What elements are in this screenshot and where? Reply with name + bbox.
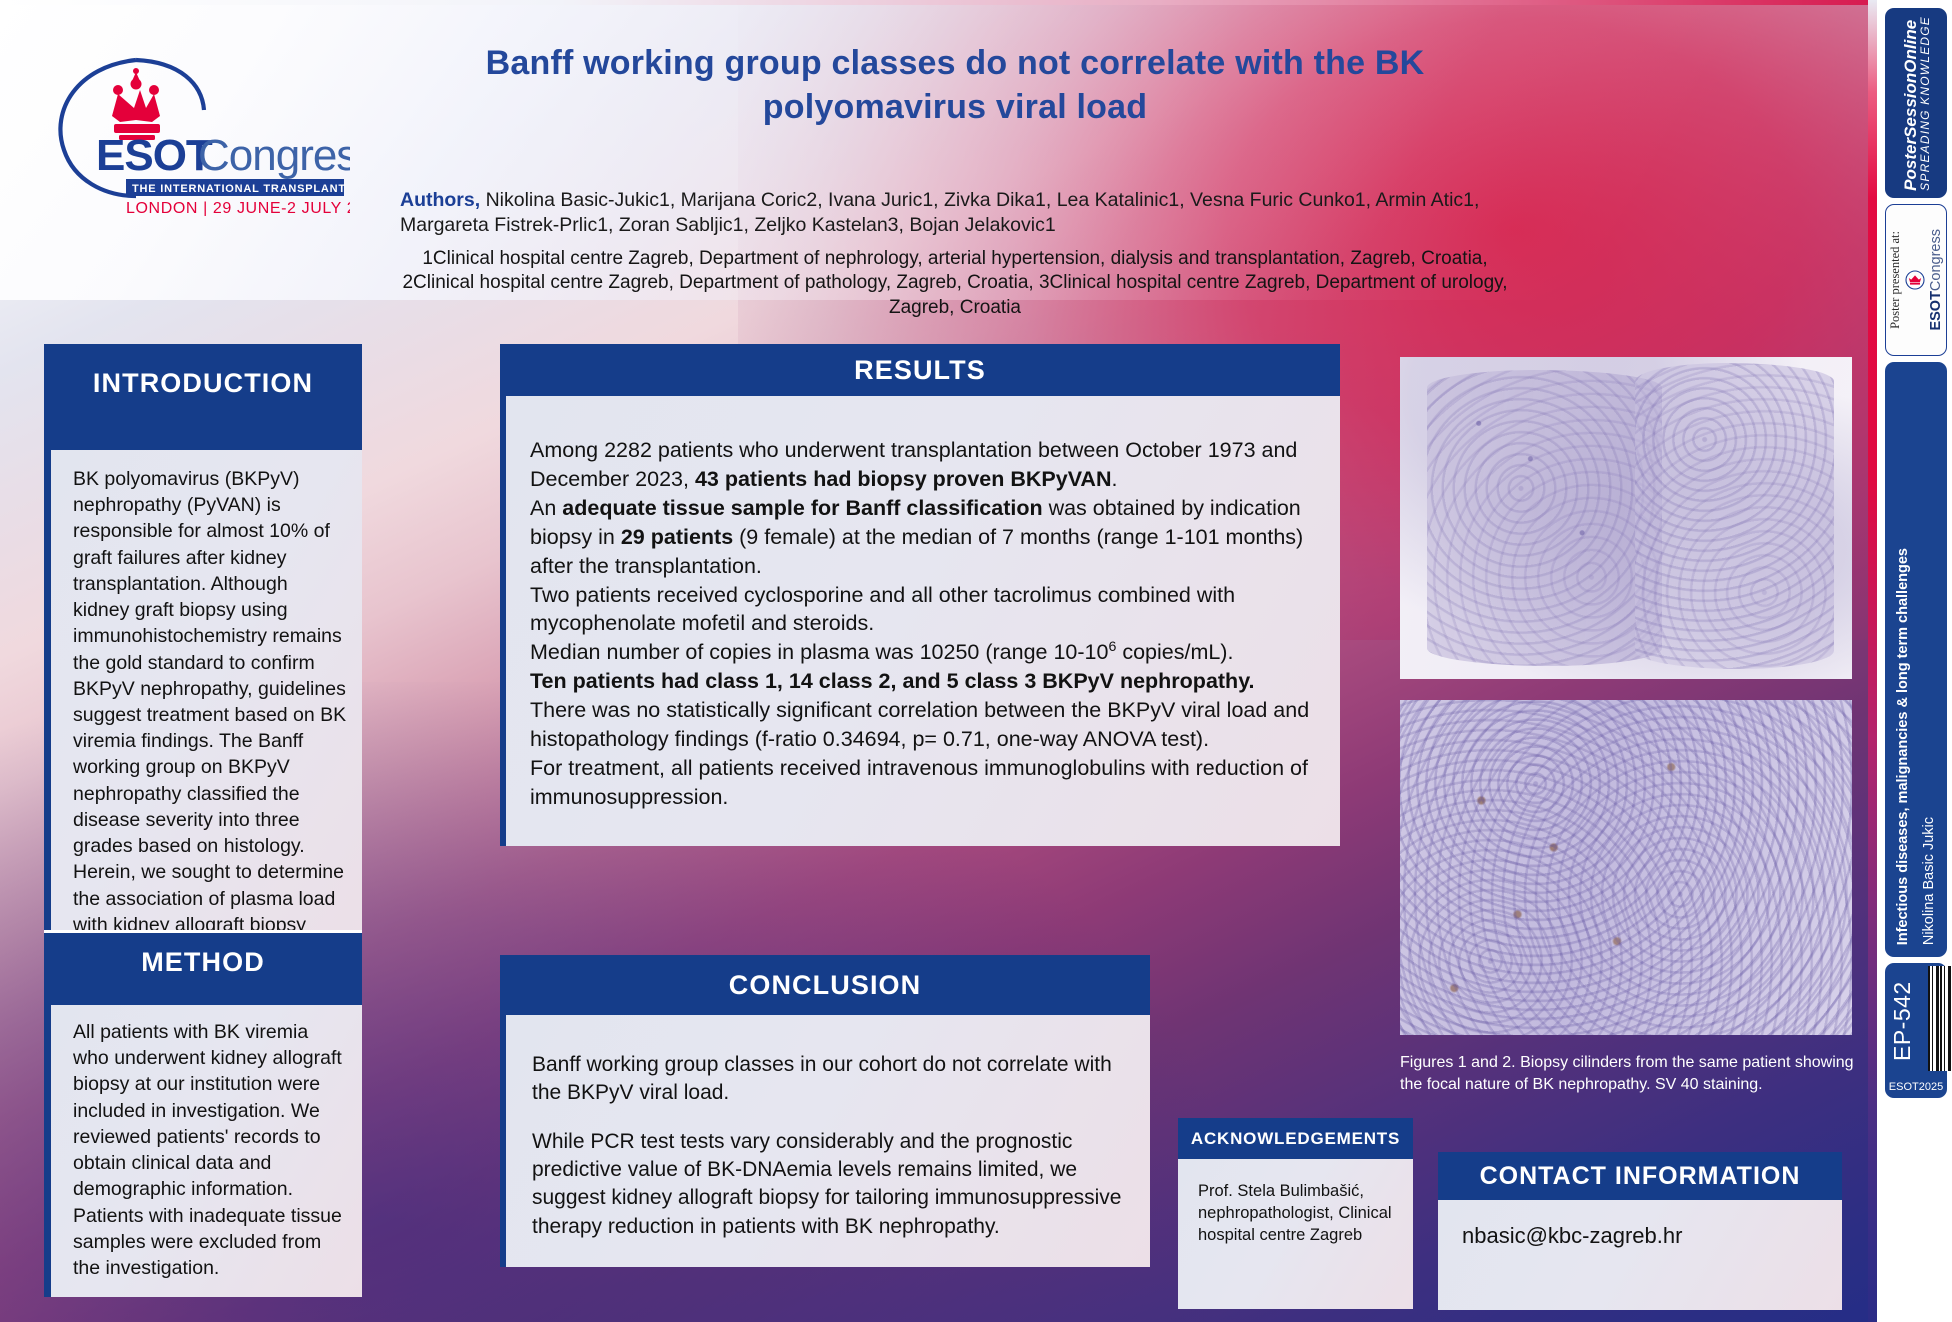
esot-crown-mini-icon — [1905, 270, 1925, 290]
results-paragraph-1: Among 2282 patients who underwent transp… — [530, 436, 1318, 494]
acknowledgements-panel: ACKNOWLEDGEMENTS Prof. Stela Bulimbašić,… — [1178, 1118, 1413, 1309]
pso-tagline: SPREADING KNOWLEDGE — [1919, 16, 1931, 191]
results-p5-text: Ten patients had class 1, 14 class 2, an… — [530, 669, 1255, 693]
introduction-panel: INTRODUCTION BK polyomavirus (BKPyV) nep… — [44, 344, 362, 978]
svg-text:Congress: Congress — [198, 131, 350, 180]
presented-at-label: Poster presented at: — [1888, 231, 1904, 329]
contact-heading: CONTACT INFORMATION — [1438, 1152, 1842, 1200]
results-paragraph-3: Two patients received cyclosporine and a… — [530, 581, 1318, 639]
results-p4-a: Median number of copies in plasma was 10… — [530, 641, 1108, 665]
rail-esot-wordmark: ESOTCongress — [1928, 229, 1944, 331]
method-panel: METHOD All patients with BK viremia who … — [44, 930, 362, 1297]
conclusion-paragraph-1: Banff working group classes in our cohor… — [532, 1051, 1126, 1108]
rail-esot-bold: ESOT — [1928, 291, 1944, 330]
results-p2-a: An — [530, 496, 562, 520]
poster-session-online-badge: PosterSessionOnline SPREADING KNOWLEDGE — [1885, 8, 1947, 198]
acknowledgements-body: Prof. Stela Bulimbašić, nephropathologis… — [1178, 1159, 1413, 1309]
introduction-heading-filler — [44, 422, 362, 450]
conclusion-panel: CONCLUSION Banff working group classes i… — [500, 955, 1150, 1267]
authors-label: Authors, — [400, 189, 480, 211]
figure-2-histology-texture — [1400, 700, 1852, 1035]
poster-barcode — [1928, 966, 1952, 1071]
results-paragraph-4: Median number of copies in plasma was 10… — [530, 638, 1318, 667]
svg-text:ESOT: ESOT — [96, 131, 213, 180]
results-paragraph-5: Ten patients had class 1, 14 class 2, an… — [530, 667, 1318, 696]
pso-brand-text: PosterSessionOnline — [1901, 19, 1920, 190]
rail-esot-logo: ESOTCongress — [1905, 229, 1944, 331]
figure-2-biopsy-image — [1400, 700, 1852, 1035]
figure-1-tissue-core — [1427, 370, 1662, 666]
authors-block: Authors, Nikolina Basic-Jukic1, Marijana… — [400, 188, 1510, 321]
figure-1-biopsy-image — [1400, 357, 1852, 679]
rail-esot-light: Congress — [1928, 229, 1944, 291]
conclusion-heading: CONCLUSION — [500, 955, 1150, 1015]
method-heading: METHOD — [44, 933, 362, 991]
poster-root: ESOT Congress THE INTERNATIONAL TRANSPLA… — [0, 0, 1952, 1322]
results-body: Among 2282 patients who underwent transp… — [500, 396, 1340, 846]
affiliations: 1Clinical hospital centre Zagreb, Depart… — [400, 247, 1510, 321]
rail-color-stripe — [1868, 0, 1877, 1322]
figure-1-histology-texture — [1400, 357, 1852, 679]
results-p1-b: 43 patients had biopsy proven BKPyVAN — [695, 467, 1112, 491]
authors-names: Nikolina Basic-Jukic1, Marijana Coric2, … — [400, 189, 1479, 236]
logo-tagline: THE INTERNATIONAL TRANSPLANT CONGRESS — [132, 183, 350, 195]
results-paragraph-2: An adequate tissue sample for Banff clas… — [530, 494, 1318, 581]
poster-title: Banff working group classes do not corre… — [400, 42, 1510, 129]
authors-line: Authors, Nikolina Basic-Jukic1, Marijana… — [400, 188, 1510, 239]
poster-canvas: ESOT Congress THE INTERNATIONAL TRANSPLA… — [0, 0, 1868, 1322]
results-p2-d: 29 patients — [621, 525, 733, 549]
figure-1-tissue-core-secondary — [1635, 363, 1834, 669]
introduction-heading: INTRODUCTION — [44, 344, 362, 422]
presenter-name: Nikolina Basic Jukic — [1921, 817, 1937, 945]
method-body: All patients with BK viremia who underwe… — [44, 1005, 362, 1297]
conclusion-paragraph-2: While PCR test tests vary considerably a… — [532, 1128, 1126, 1241]
conclusion-body: Banff working group classes in our cohor… — [500, 1015, 1150, 1267]
figures-caption: Figures 1 and 2. Biopsy cilinders from t… — [1400, 1052, 1860, 1096]
results-p1-c: . — [1112, 467, 1118, 491]
results-p2-b: adequate tissue sample for Banff classif… — [562, 496, 1042, 520]
header-top-rule — [0, 0, 1868, 5]
congress-theme-badge: Infectious diseases, malignancies & long… — [1885, 362, 1947, 957]
congress-year-label: ESOT2025 — [1885, 1081, 1947, 1093]
poster-code-number: EP-542 — [1889, 973, 1916, 1070]
results-paragraph-7: For treatment, all patients received int… — [530, 754, 1318, 812]
results-paragraph-6: There was no statistically significant c… — [530, 696, 1318, 754]
results-panel: RESULTS Among 2282 patients who underwen… — [500, 344, 1340, 846]
esot-congress-logo: ESOT Congress THE INTERNATIONAL TRANSPLA… — [40, 38, 350, 216]
results-p4-b: copies/mL). — [1116, 641, 1233, 665]
contact-information-panel: CONTACT INFORMATION nbasic@kbc-zagreb.hr — [1438, 1152, 1842, 1310]
poster-presented-at-badge: Poster presented at: ESOTCongress — [1885, 204, 1947, 356]
results-heading: RESULTS — [500, 344, 1340, 396]
poster-session-online-wordmark: PosterSessionOnline SPREADING KNOWLEDGE — [1902, 16, 1931, 191]
logo-location-date: LONDON | 29 JUNE-2 JULY 2025 — [126, 200, 350, 216]
introduction-body: BK polyomavirus (BKPyV) nephropathy (PyV… — [44, 450, 362, 978]
right-rail: PosterSessionOnline SPREADING KNOWLEDGE … — [1868, 0, 1952, 1322]
contact-email[interactable]: nbasic@kbc-zagreb.hr — [1438, 1200, 1842, 1310]
congress-theme-label: Infectious diseases, malignancies & long… — [1895, 548, 1911, 945]
acknowledgements-heading: ACKNOWLEDGEMENTS — [1178, 1118, 1413, 1159]
method-heading-filler — [44, 991, 362, 1005]
crown-icon — [112, 68, 160, 140]
